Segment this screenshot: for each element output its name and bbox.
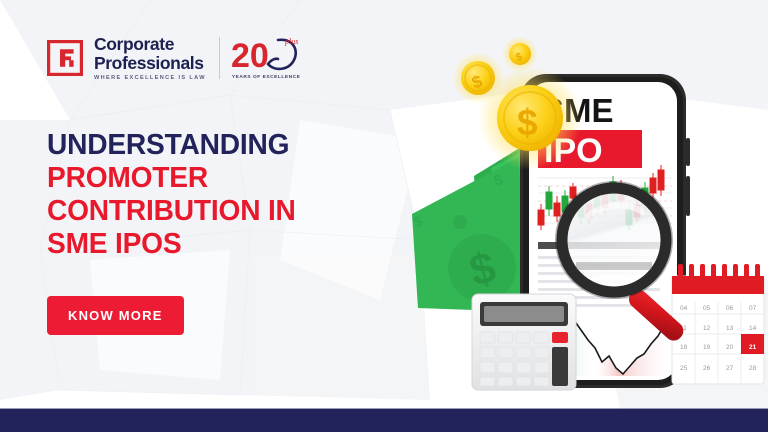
svg-text:05: 05 [703,305,711,312]
headline-block: UNDERSTANDING PROMOTER CONTRIBUTION IN S… [47,129,377,261]
svg-text:07: 07 [749,305,757,312]
svg-text:$: $ [517,102,538,143]
svg-text:27: 27 [726,365,734,372]
know-more-button[interactable]: KNOW MORE [47,296,184,335]
corporate-professionals-g-mark-icon [47,40,83,76]
svg-text:13: 13 [726,325,734,332]
anniversary-tagline: YEARS OF EXCELLENCE [232,75,301,80]
brand-wordmark: Corporate Professionals WHERE EXCELLENCE… [94,36,206,81]
logo-divider [219,37,220,79]
svg-text:26: 26 [703,365,711,372]
calendar-icon: 0405 0607 1112 1314 1819 20 21 2526 2728 [672,264,764,384]
svg-text:28: 28 [749,365,757,372]
anniversary-badge: 20 plus YEARS OF EXCELLENCE [231,36,305,80]
hero-illustration: $ $ $ $ SME IPO [390,18,768,410]
svg-text:18: 18 [680,344,688,351]
bottom-accent-bar [0,409,768,432]
headline-line-4: SME IPOS [47,228,367,261]
svg-text:19: 19 [703,344,711,351]
calculator-red-key [552,332,568,343]
brand-logo[interactable]: Corporate Professionals WHERE EXCELLENCE… [47,36,305,81]
svg-text:25: 25 [680,365,688,372]
brand-tagline: WHERE EXCELLENCE IS LAW [94,75,206,81]
headline-line-2: PROMOTER [47,162,367,195]
bottom-bar-hairline [0,408,768,409]
headline-line-3: CONTRIBUTION IN [47,195,367,228]
calculator-icon [472,294,576,390]
svg-text:14: 14 [749,325,757,332]
brand-name-line2: Professionals [94,55,206,73]
svg-text:04: 04 [680,305,688,312]
svg-text:21: 21 [749,344,757,351]
anniversary-plus-glyph: plus [284,37,298,46]
anniversary-20-icon: 20 plus [231,34,305,80]
headline-line-1: UNDERSTANDING [47,129,367,162]
svg-text:06: 06 [726,305,734,312]
svg-text:20: 20 [726,344,734,351]
calculator-dark-key [552,347,568,386]
gold-coins-group: $ $ $ [452,36,582,170]
svg-text:12: 12 [703,325,711,332]
anniversary-number-glyph: 20 [231,37,269,75]
brand-name-line1: Corporate [94,36,206,54]
banner-root: Corporate Professionals WHERE EXCELLENCE… [0,0,768,432]
